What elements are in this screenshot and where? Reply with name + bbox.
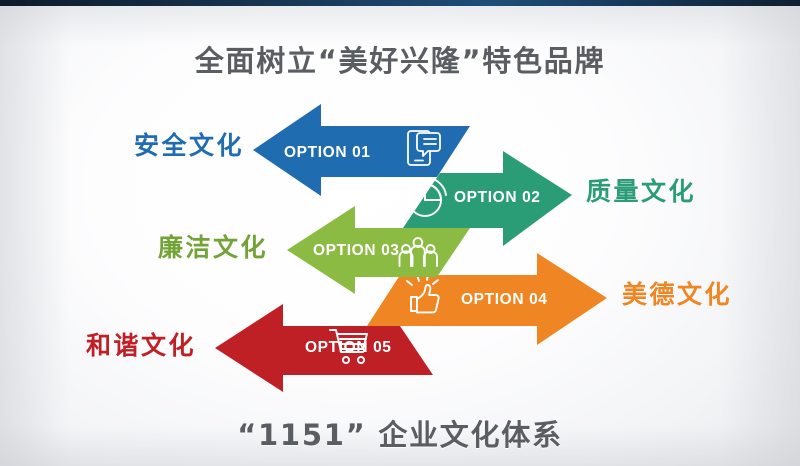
arrow-option-02-label: OPTION 02 [454,189,541,206]
top-edge-bar [0,0,800,6]
culture-label-quality: 质量文化 [586,172,696,208]
culture-label-harmony: 和谐文化 [86,326,196,362]
arrow-option-03-label: OPTION 03 [313,242,400,259]
page-title: 全面树立“美好兴隆”特色品牌 [0,38,800,80]
page-footer: “1151” 企业文化体系 [0,412,800,454]
slide-canvas: 全面树立“美好兴隆”特色品牌 OPTION 05 OPTION 04 [0,0,800,466]
arrow-option-01-label: OPTION 01 [284,144,371,161]
arrow-option-04-label: OPTION 04 [461,291,548,308]
culture-label-safety: 安全文化 [134,126,244,162]
arrow-option-05-label: OPTION 05 [305,339,392,356]
culture-label-integrity: 廉洁文化 [158,228,268,264]
culture-label-virtue: 美德文化 [622,275,732,311]
